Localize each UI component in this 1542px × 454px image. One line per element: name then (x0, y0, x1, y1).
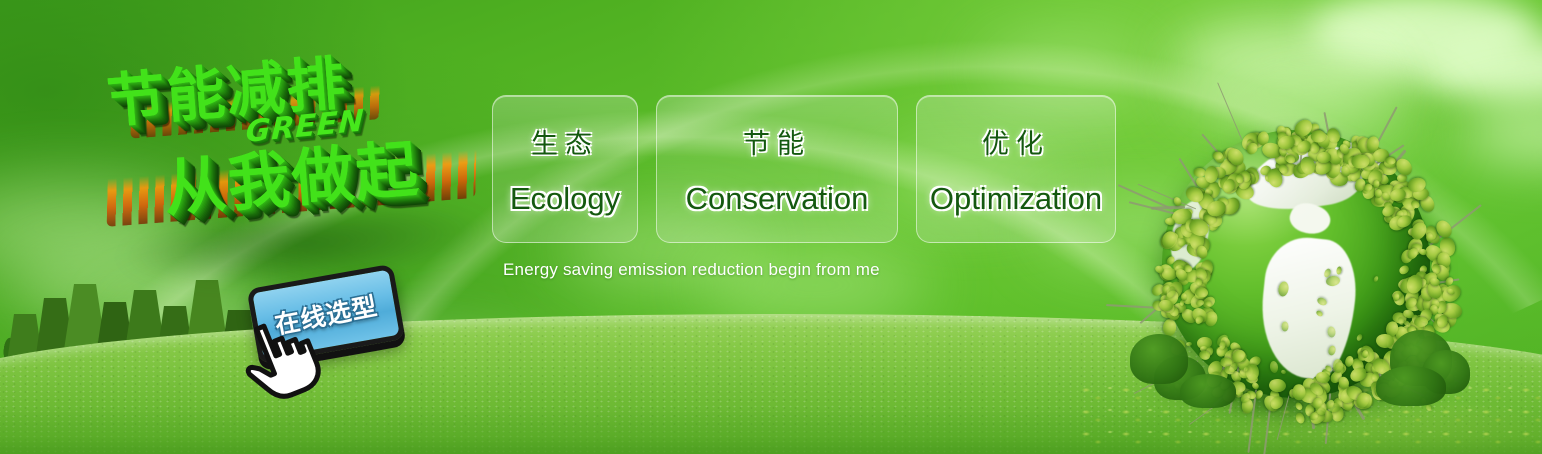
card-optimization-cn: 优化 (982, 122, 1050, 161)
feature-card-list: 生态 Ecology 节能 Conservation 优化 Optimizati… (492, 95, 1116, 243)
card-ecology-cn: 生态 (531, 122, 599, 161)
hero-banner: 节能减排 GREEN 从我做起 在线选型 生态 Ecology 节能 Conse… (0, 0, 1542, 454)
ivy-leaf-icon (1316, 151, 1331, 163)
leafy-globe-icon (1140, 118, 1450, 428)
ivy-leaf-icon (1351, 154, 1370, 169)
shrub-icon (1180, 374, 1236, 408)
cloud-icon (980, 40, 1150, 98)
banner-tagline: Energy saving emission reduction begin f… (503, 260, 880, 280)
ivy-leaf-icon (1385, 156, 1395, 164)
card-ecology-en: Ecology (510, 181, 620, 217)
card-conservation-cn: 节能 (743, 122, 811, 161)
card-ecology[interactable]: 生态 Ecology (492, 95, 638, 243)
card-optimization[interactable]: 优化 Optimization (916, 95, 1116, 243)
ivy-leaf-icon (1426, 232, 1433, 241)
ivy-leaf-icon (1333, 359, 1343, 373)
shrub-icon (1130, 334, 1188, 384)
ivy-leaf-icon (1414, 317, 1428, 327)
shrub-icon (1376, 366, 1446, 406)
card-conservation[interactable]: 节能 Conservation (656, 95, 898, 243)
card-optimization-en: Optimization (930, 181, 1102, 217)
card-conservation-en: Conservation (686, 181, 869, 217)
headline-3d: 节能减排 GREEN 从我做起 (91, 21, 499, 291)
